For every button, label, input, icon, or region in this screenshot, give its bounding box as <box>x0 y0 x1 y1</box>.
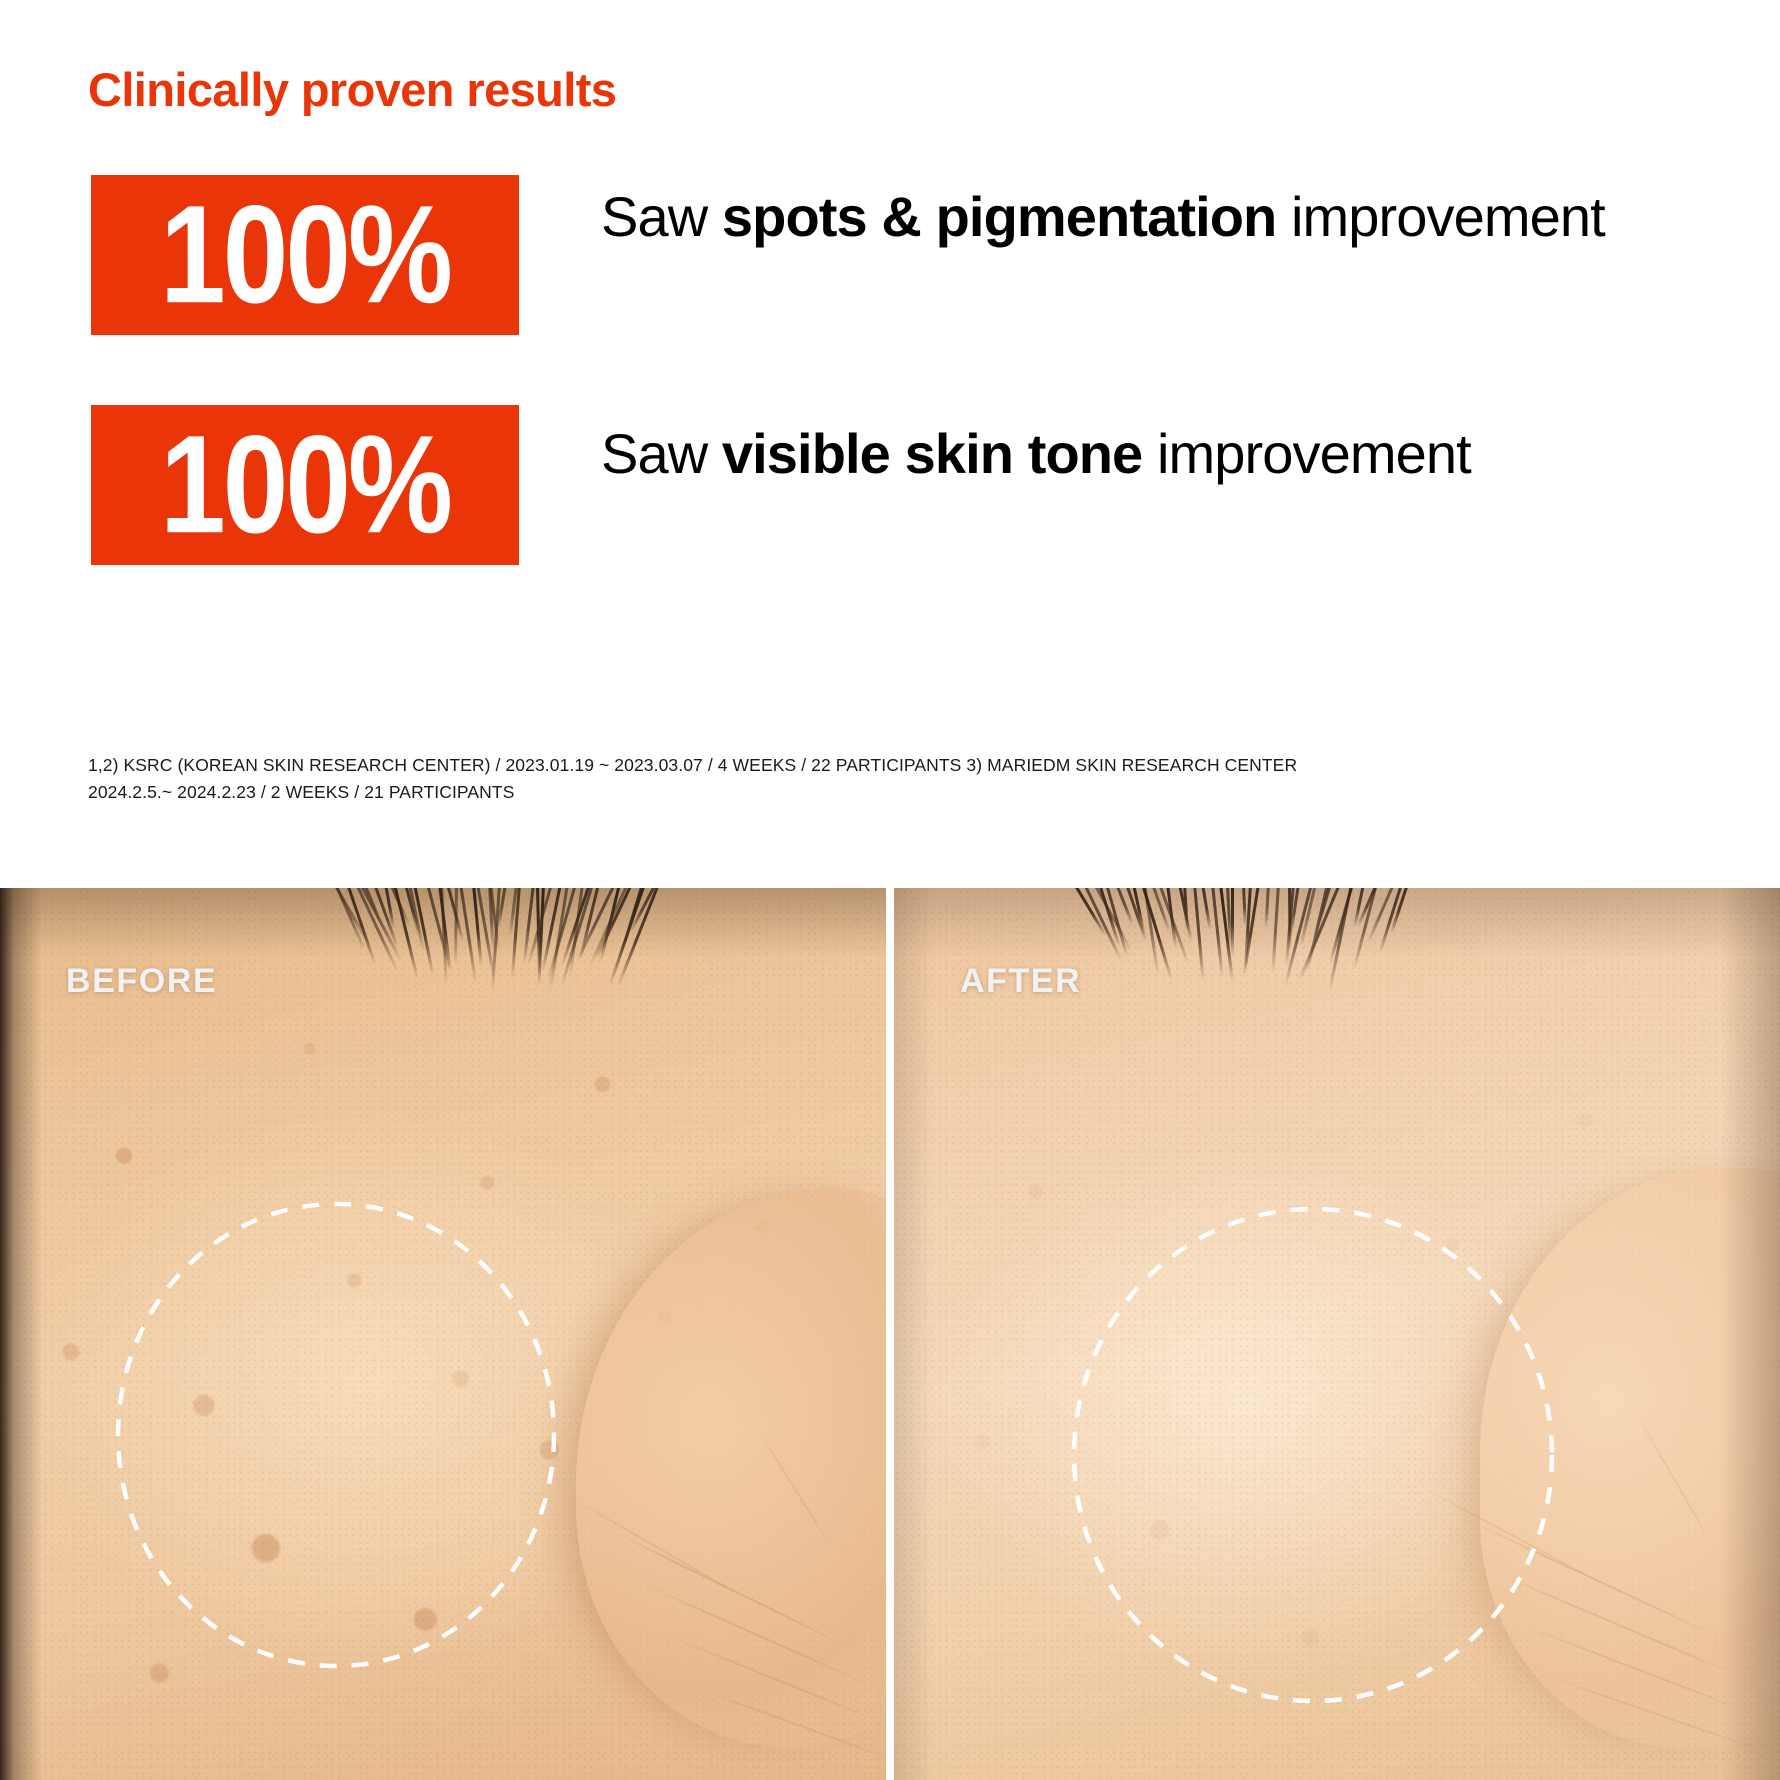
footnote-line-1: 1,2) KSRC (KOREAN SKIN RESEARCH CENTER) … <box>88 752 1408 779</box>
eyelash-strand <box>1271 888 1279 973</box>
stat-value: 100% <box>160 415 450 554</box>
eyelash-strand <box>1378 888 1402 953</box>
stat-badge: 100% <box>91 175 519 335</box>
study-footnote: 1,2) KSRC (KOREAN SKIN RESEARCH CENTER) … <box>88 752 1408 806</box>
stat-row: 100% Saw spots & pigmentation improvemen… <box>0 175 1780 375</box>
eyelash-strand <box>1242 888 1246 926</box>
eyelash-cluster <box>1074 888 1404 1004</box>
before-photo: BEFORE <box>0 888 886 1780</box>
before-after-comparison: BEFORE AFTER <box>0 888 1780 1780</box>
stat-value: 100% <box>160 185 450 324</box>
stat-emphasis: visible skin tone <box>722 422 1142 485</box>
stat-prefix: Saw <box>601 422 722 485</box>
footnote-line-2: 2024.2.5.~ 2024.2.23 / 2 WEEKS / 21 PART… <box>88 779 1408 806</box>
stat-description: Saw spots & pigmentation improvement <box>601 182 1721 251</box>
eyelash-cluster <box>330 888 660 1004</box>
eyelash-strand <box>393 888 418 978</box>
eyelash-strand <box>1231 888 1234 956</box>
stat-badge: 100% <box>91 405 519 565</box>
page-title: Clinically proven results <box>88 62 616 117</box>
before-label: BEFORE <box>66 962 217 1001</box>
stat-suffix: improvement <box>1142 422 1470 485</box>
clinical-results-panel: Clinically proven results 100% Saw spots… <box>0 0 1780 888</box>
eyelash-strand <box>1193 888 1204 982</box>
stat-suffix: improvement <box>1276 185 1604 248</box>
skin-pore-texture <box>0 888 886 1780</box>
stat-description: Saw visible skin tone improvement <box>601 419 1721 488</box>
eyelash-strand <box>1166 888 1177 949</box>
stat-row: 100% Saw visible skin tone improvement <box>0 405 1780 565</box>
eyelash-strand <box>1264 888 1269 928</box>
eyelash-strand <box>454 888 458 966</box>
eyelash-strand <box>1201 888 1211 931</box>
eyelash-strand <box>1183 888 1188 930</box>
stat-emphasis: spots & pigmentation <box>722 185 1276 248</box>
after-photo: AFTER <box>894 888 1780 1780</box>
stat-prefix: Saw <box>601 185 722 248</box>
after-label: AFTER <box>960 962 1081 1001</box>
skin-pore-texture <box>894 888 1780 1780</box>
